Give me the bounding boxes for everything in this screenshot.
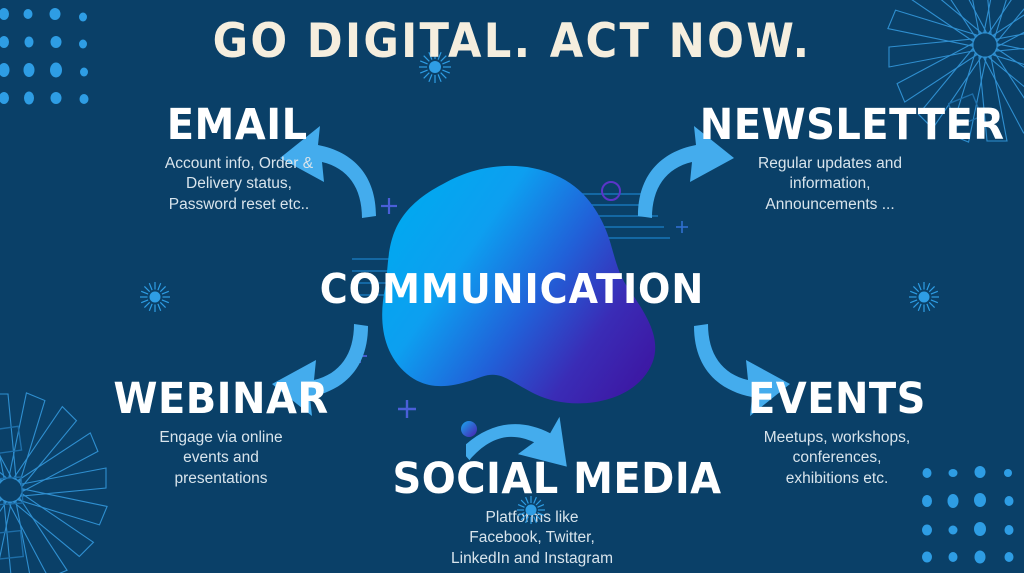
desc-line: Password reset etc.. — [104, 195, 374, 216]
branch-social-media[interactable]: SOCIAL MEDIA Platforms like Facebook, Tw… — [382, 458, 682, 570]
desc-line: Facebook, Twitter, — [382, 528, 682, 549]
center-label: COMMUNICATION — [36, 265, 988, 313]
desc-line: Announcements ... — [690, 195, 970, 216]
branch-title-social-media: SOCIAL MEDIA — [393, 458, 672, 502]
page-title: GO DIGITAL. ACT NOW. — [41, 14, 983, 69]
branch-email[interactable]: EMAIL Account info, Order & Delivery sta… — [104, 104, 374, 216]
branch-events[interactable]: EVENTS Meetups, workshops, conferences, … — [712, 378, 962, 490]
desc-line: exhibitions etc. — [712, 469, 962, 490]
desc-line: Meetups, workshops, — [712, 428, 962, 449]
branch-desc-newsletter: Regular updates and information, Announc… — [690, 154, 970, 216]
desc-line: Platforms like — [382, 508, 682, 529]
branch-title-email: EMAIL — [112, 104, 363, 148]
desc-line: events and — [96, 448, 346, 469]
desc-line: conferences, — [712, 448, 962, 469]
branch-title-events: EVENTS — [721, 378, 954, 422]
desc-line: Engage via online — [96, 428, 346, 449]
desc-line: LinkedIn and Instagram — [382, 549, 682, 570]
branch-webinar[interactable]: WEBINAR Engage via online events and pre… — [96, 378, 346, 490]
infographic-poster: GO DIGITAL. ACT NOW. COMMUNICATION EMAIL… — [0, 0, 1024, 573]
outline-squares — [0, 422, 52, 572]
desc-line: Regular updates and — [690, 154, 970, 175]
branch-title-newsletter: NEWSLETTER — [700, 104, 960, 148]
branch-desc-social-media: Platforms like Facebook, Twitter, Linked… — [382, 508, 682, 570]
branch-desc-webinar: Engage via online events and presentatio… — [96, 428, 346, 490]
desc-line: information, — [690, 174, 970, 195]
branch-desc-email: Account info, Order & Delivery status, P… — [104, 154, 374, 216]
branch-title-webinar: WEBINAR — [105, 378, 338, 422]
desc-line: presentations — [96, 469, 346, 490]
branch-desc-events: Meetups, workshops, conferences, exhibit… — [712, 428, 962, 490]
desc-line: Account info, Order & — [104, 154, 374, 175]
desc-line: Delivery status, — [104, 174, 374, 195]
branch-newsletter[interactable]: NEWSLETTER Regular updates and informati… — [690, 104, 970, 216]
squares-svg — [0, 422, 52, 572]
